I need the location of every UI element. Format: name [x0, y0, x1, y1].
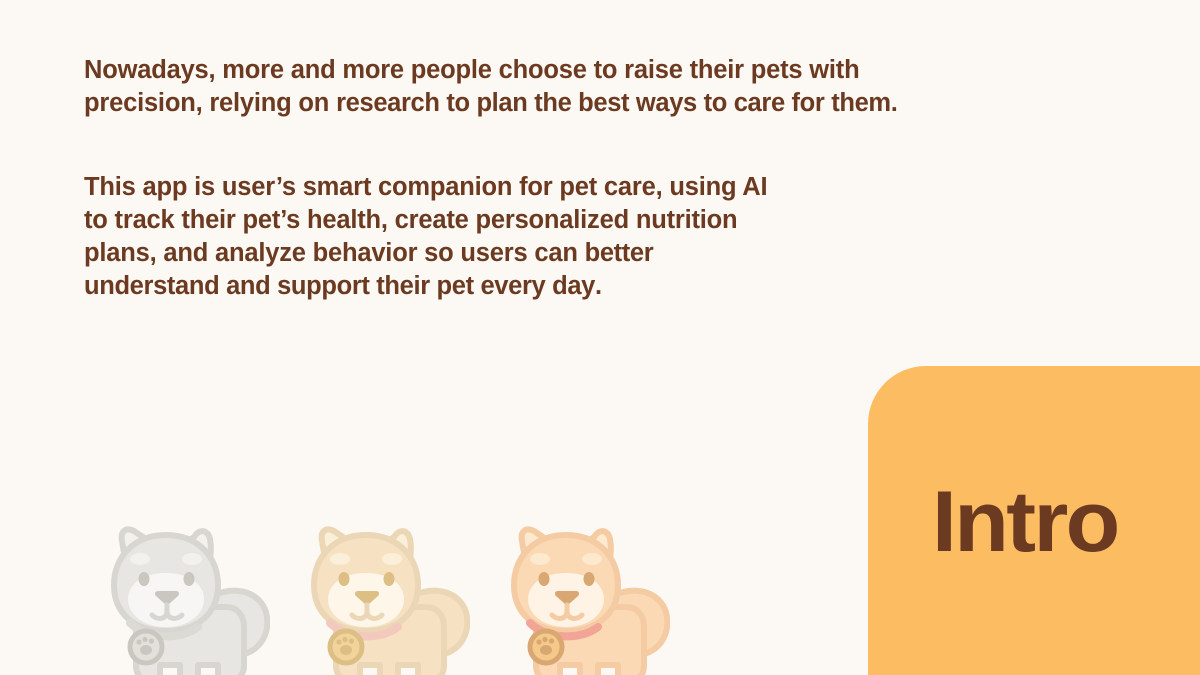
paragraph-2-lead: This app is user’s smart companion for p…: [84, 173, 767, 267]
paragraph-2-tail: .: [595, 272, 602, 300]
intro-copy-block: Nowadays, more and more people choose to…: [84, 54, 914, 303]
shiba-dog-gray: [94, 515, 270, 675]
paragraph-1-emphasis: research to plan the best ways to care f…: [336, 89, 897, 117]
paragraph-1: Nowadays, more and more people choose to…: [84, 54, 914, 120]
shiba-dog-peach: [494, 515, 670, 675]
shiba-dog-cream: [294, 515, 470, 675]
intro-panel: Intro: [868, 366, 1200, 675]
intro-panel-title: Intro: [932, 479, 1118, 565]
slide-canvas: Nowadays, more and more people choose to…: [0, 0, 1200, 675]
paragraph-2: This app is user’s smart companion for p…: [84, 171, 914, 303]
